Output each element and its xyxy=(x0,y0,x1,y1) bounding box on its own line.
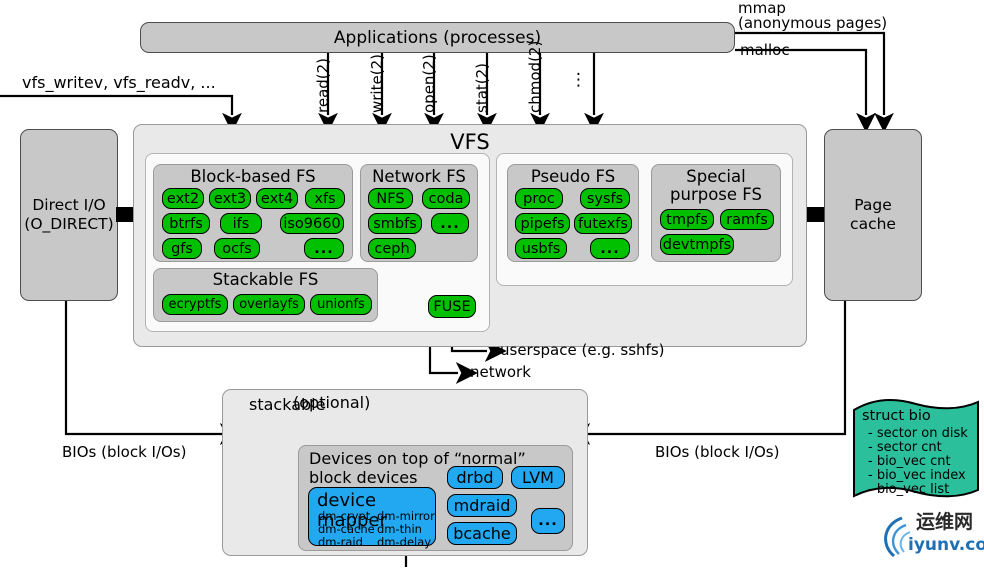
fs-pill-ceph[interactable]: ceph xyxy=(368,238,416,259)
vfs-title: VFS xyxy=(134,130,806,154)
block-target-bcache[interactable]: bcache xyxy=(447,522,517,545)
fs-pill-usbfs[interactable]: usbfs xyxy=(515,238,567,259)
direct-io-box: Direct I/O (O_DIRECT) xyxy=(20,129,118,301)
group-title-network-fs: Network FS xyxy=(361,168,477,186)
dm-item-dm-raid: dm-raid xyxy=(318,536,363,549)
watermark: 运维网 iyunv.com xyxy=(872,512,984,564)
syscall-label-stat: stat(2) xyxy=(473,63,491,113)
page-cache-box: Page cache xyxy=(824,129,922,301)
block-target-drbd[interactable]: drbd xyxy=(447,466,503,489)
fuse-output-userspace-label: userspace (e.g. sshfs) xyxy=(500,342,664,359)
watermark-domain-text: iyunv.com xyxy=(908,536,984,554)
fs-pill-btrfs[interactable]: btrfs xyxy=(162,213,210,234)
syscall-label-more: ⋮ xyxy=(570,72,587,89)
fs-pill-smbfs[interactable]: smbfs xyxy=(368,213,422,234)
group-stackable-fs: Stackable FS ecryptfs overlayfs unionfs xyxy=(153,268,378,322)
fs-pill-iso9660[interactable]: iso9660 xyxy=(280,213,344,234)
group-title-special-purpose-fs-line1: Special xyxy=(652,168,780,186)
malloc-label: malloc xyxy=(740,42,790,59)
struct-bio-field-4: - bio_vec list xyxy=(868,483,949,498)
fs-pill-ext2[interactable]: ext2 xyxy=(162,188,204,209)
fs-pill-coda[interactable]: coda xyxy=(422,188,470,209)
group-title-stackable-fs: Stackable FS xyxy=(154,271,377,289)
fs-pill-nfs[interactable]: NFS xyxy=(368,188,413,209)
fs-pill-tmpfs[interactable]: tmpfs xyxy=(660,209,714,230)
fs-pill-ecryptfs[interactable]: ecryptfs xyxy=(162,294,228,315)
fs-pill-devtmpfs[interactable]: devtmpfs xyxy=(660,234,734,255)
group-block-based-fs: Block-based FS ext2 ext3 ext4 xfs btrfs … xyxy=(153,164,353,262)
fs-pill-proc[interactable]: proc xyxy=(515,188,563,209)
page-cache-vfs-connector xyxy=(805,207,824,222)
group-title-block-based-fs: Block-based FS xyxy=(154,168,352,186)
block-target-lvm[interactable]: LVM xyxy=(511,466,565,489)
applications-label: Applications (processes) xyxy=(334,28,541,48)
vfs-entry-label: vfs_writev, vfs_readv, ... xyxy=(22,74,216,91)
bios-label-left: BIOs (block I/Os) xyxy=(62,444,186,461)
group-special-purpose-fs: Special purpose FS tmpfs ramfs devtmpfs xyxy=(651,164,781,262)
block-target-mdraid[interactable]: mdraid xyxy=(447,494,517,517)
fs-pill-ocfs[interactable]: ocfs xyxy=(214,238,260,259)
block-layer-stackable-label: stackable xyxy=(249,395,325,414)
struct-bio-title: struct bio xyxy=(862,408,931,424)
fs-pill-ext3[interactable]: ext3 xyxy=(209,188,251,209)
fs-pill-gfs[interactable]: gfs xyxy=(162,238,202,259)
syscall-label-write: write(2) xyxy=(368,54,386,113)
fs-pill-network-more[interactable]: ... xyxy=(431,213,469,234)
fs-pill-overlayfs[interactable]: overlayfs xyxy=(233,294,305,315)
direct-io-label-line2: (O_DIRECT) xyxy=(21,215,117,234)
direct-io-label-line1: Direct I/O xyxy=(21,196,117,215)
device-mapper-box: device mapper dm-crypt dm-mirror dm-cach… xyxy=(308,487,436,546)
fs-pill-ramfs[interactable]: ramfs xyxy=(720,209,774,230)
group-pseudo-fs: Pseudo FS proc sysfs pipefs futexfs usbf… xyxy=(507,164,639,262)
devices-on-top-box: Devices on top of “normal” block devices… xyxy=(298,445,573,551)
applications-box: Applications (processes) xyxy=(140,22,735,53)
group-network-fs: Network FS NFS coda smbfs ... ceph xyxy=(360,164,478,262)
fuse-output-network-label: network xyxy=(470,364,531,381)
syscall-label-read: read(2) xyxy=(314,58,332,113)
dm-item-dm-delay: dm-delay xyxy=(377,536,431,549)
fs-pill-pipefs[interactable]: pipefs xyxy=(515,213,570,234)
devices-on-top-label-line2: block devices xyxy=(309,468,417,487)
syscall-label-chmod: chmod(2) xyxy=(526,41,544,113)
fs-pill-fuse[interactable]: FUSE xyxy=(428,295,476,318)
diagram-canvas: Applications (processes) read(2) write(2… xyxy=(0,0,984,567)
fs-pill-futexfs[interactable]: futexfs xyxy=(574,213,632,234)
mmap-label-line2: (anonymous pages) xyxy=(738,15,887,32)
group-title-pseudo-fs: Pseudo FS xyxy=(508,168,638,186)
fs-pill-xfs[interactable]: xfs xyxy=(305,188,345,209)
fs-pill-sysfs[interactable]: sysfs xyxy=(580,188,630,209)
group-title-special-purpose-fs-line2: purpose FS xyxy=(652,186,780,204)
bios-label-right: BIOs (block I/Os) xyxy=(655,444,779,461)
fs-pill-block-more[interactable]: ... xyxy=(304,238,344,259)
fs-pill-pseudo-more[interactable]: ... xyxy=(590,238,630,259)
page-cache-label-line2: cache xyxy=(825,215,921,234)
page-cache-label-line1: Page xyxy=(825,196,921,215)
struct-bio-flag: struct bio - sector on disk - sector cnt… xyxy=(852,396,980,504)
watermark-cn-text: 运维网 xyxy=(916,512,973,532)
fs-pill-ifs[interactable]: ifs xyxy=(220,213,262,234)
fs-pill-ext4[interactable]: ext4 xyxy=(256,188,298,209)
syscall-label-open: open(2) xyxy=(420,54,438,113)
block-target-more[interactable]: ... xyxy=(531,508,565,534)
fs-pill-unionfs[interactable]: unionfs xyxy=(310,294,372,315)
